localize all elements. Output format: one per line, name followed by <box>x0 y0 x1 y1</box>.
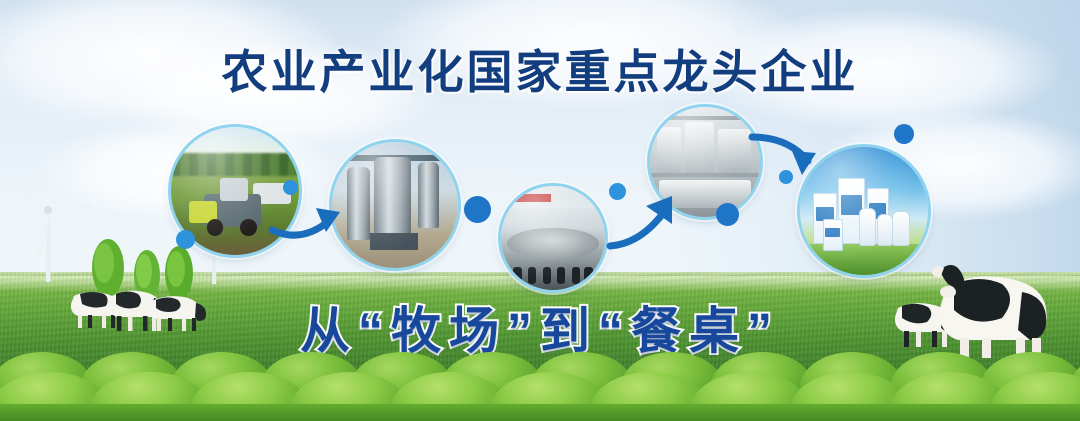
node-gloss <box>800 147 928 275</box>
node-gloss <box>501 186 605 290</box>
flow-node-milking-parlour[interactable] <box>501 186 605 290</box>
bush-base-strip <box>0 404 1080 421</box>
decor-dot-5 <box>894 124 914 144</box>
flow-node-feed-silos[interactable] <box>332 142 458 268</box>
connector-dot-main <box>464 196 491 223</box>
dairy-banner: 农业产业化国家重点龙头企业 从“牧场”到“餐桌” <box>0 0 1080 421</box>
decor-dot-6 <box>779 170 793 184</box>
flow-node-milk-products[interactable] <box>800 147 928 275</box>
flow-node-processing-plant[interactable] <box>650 107 760 217</box>
decor-dot-2 <box>283 180 298 195</box>
decor-dot-1 <box>176 230 195 249</box>
node-gloss <box>650 107 760 217</box>
wind-turbine-1 <box>4 186 94 282</box>
decor-dot-4 <box>716 203 739 226</box>
decor-dot-3 <box>609 183 626 200</box>
page-title: 农业产业化国家重点龙头企业 <box>0 36 1080 102</box>
node-gloss <box>332 142 458 268</box>
